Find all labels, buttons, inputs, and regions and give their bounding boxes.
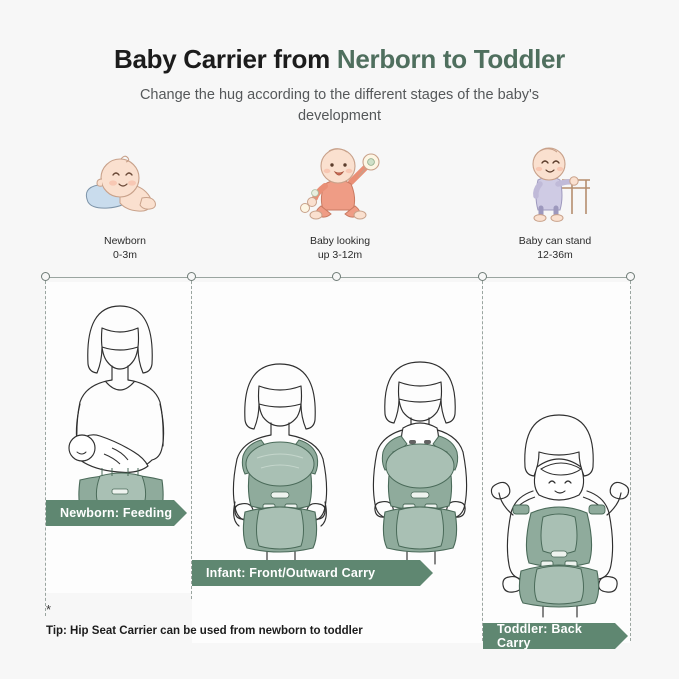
title-accent-part: Nerborn to Toddler [337, 44, 565, 74]
header: Baby Carrier from Nerborn to Toddler Cha… [0, 42, 679, 127]
infographic-page: Baby Carrier from Nerborn to Toddler Cha… [0, 0, 679, 679]
banner-arrow-icon [174, 500, 187, 526]
page-subtitle: Change the hug according to the differen… [130, 85, 550, 127]
tip-text: Tip: Hip Seat Carrier can be used from n… [46, 625, 363, 637]
banner-newborn-feeding: Newborn: Feeding [46, 500, 174, 526]
baby-sitting-rattle-icon [250, 150, 430, 222]
page-title: Baby Carrier from Nerborn to Toddler [0, 42, 679, 76]
stage-looking-up: Baby looking up 3-12m [250, 150, 430, 262]
illustration-newborn-feeding [50, 292, 190, 522]
baby-lying-icon [35, 150, 215, 222]
stage-newborn: Newborn 0-3m [35, 150, 215, 262]
tip-block: * Tip: Hip Seat Carrier can be used from… [46, 604, 363, 637]
stage-row: Newborn 0-3m [0, 150, 679, 265]
banner-arrow-icon [420, 560, 433, 586]
banner-infant-front-outward: Infant: Front/Outward Carry [192, 560, 420, 586]
tip-asterisk: * [46, 604, 363, 616]
banner-arrow-icon [615, 623, 628, 649]
illustration-infant-front-carry [205, 352, 355, 572]
stage-label: Newborn 0-3m [35, 234, 215, 262]
timeline-tick-4 [478, 272, 487, 281]
stage-label: Baby can stand 12-36m [465, 234, 645, 262]
banner-toddler-back: Toddler: Back Carry [483, 623, 615, 649]
banner-label: Infant: Front/Outward Carry [206, 566, 375, 580]
timeline-tick-2 [187, 272, 196, 281]
stage-standing: Baby can stand 12-36m [465, 150, 645, 262]
stage-label: Baby looking up 3-12m [250, 234, 430, 262]
timeline-tick-1 [41, 272, 50, 281]
timeline-tick-3 [332, 272, 341, 281]
baby-standing-icon [465, 150, 645, 222]
title-plain-part: Baby Carrier from [114, 44, 337, 74]
banner-label: Toddler: Back Carry [497, 622, 615, 650]
illustration-toddler-back-carry [487, 405, 632, 625]
banner-label: Newborn: Feeding [60, 506, 172, 520]
timeline-tick-5 [626, 272, 635, 281]
illustration-infant-outward-carry [345, 352, 495, 572]
